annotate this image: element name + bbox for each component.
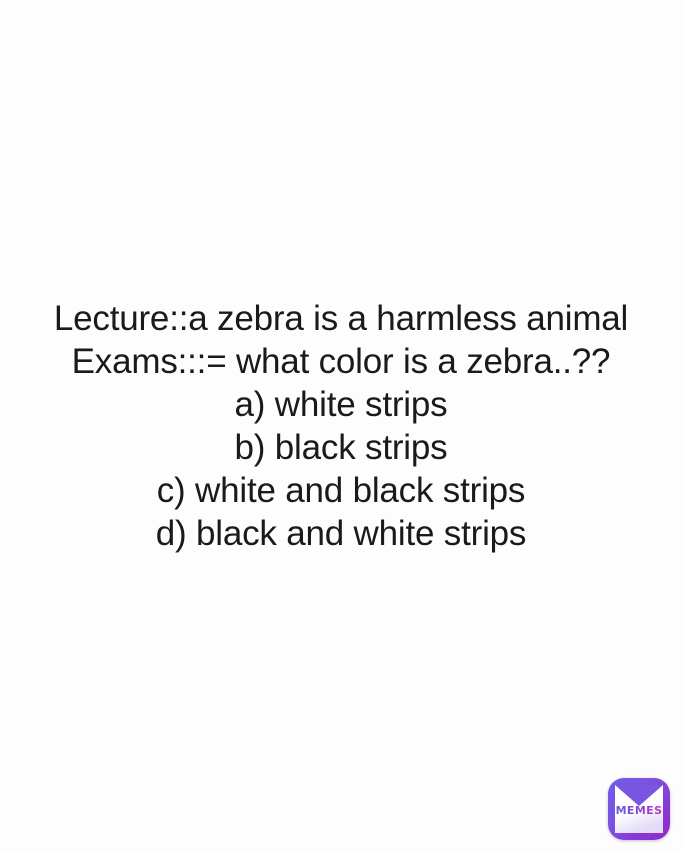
caption-line-option-c: c) white and black strips — [157, 469, 525, 512]
caption-line-option-a: a) white strips — [235, 383, 448, 426]
caption-line-option-d: d) black and white strips — [156, 512, 526, 555]
caption-line-1: Lecture::a zebra is a harmless animal — [54, 297, 628, 340]
meme-canvas: Lecture::a zebra is a harmless animal Ex… — [0, 0, 682, 852]
caption-line-2: Exams:::= what color is a zebra..?? — [72, 340, 611, 383]
meme-caption-block: Lecture::a zebra is a harmless animal Ex… — [0, 0, 682, 852]
caption-line-option-b: b) black strips — [235, 426, 448, 469]
memes-watermark-badge: MEMES — [608, 778, 670, 840]
memes-wordmark: MEMES — [608, 804, 670, 817]
